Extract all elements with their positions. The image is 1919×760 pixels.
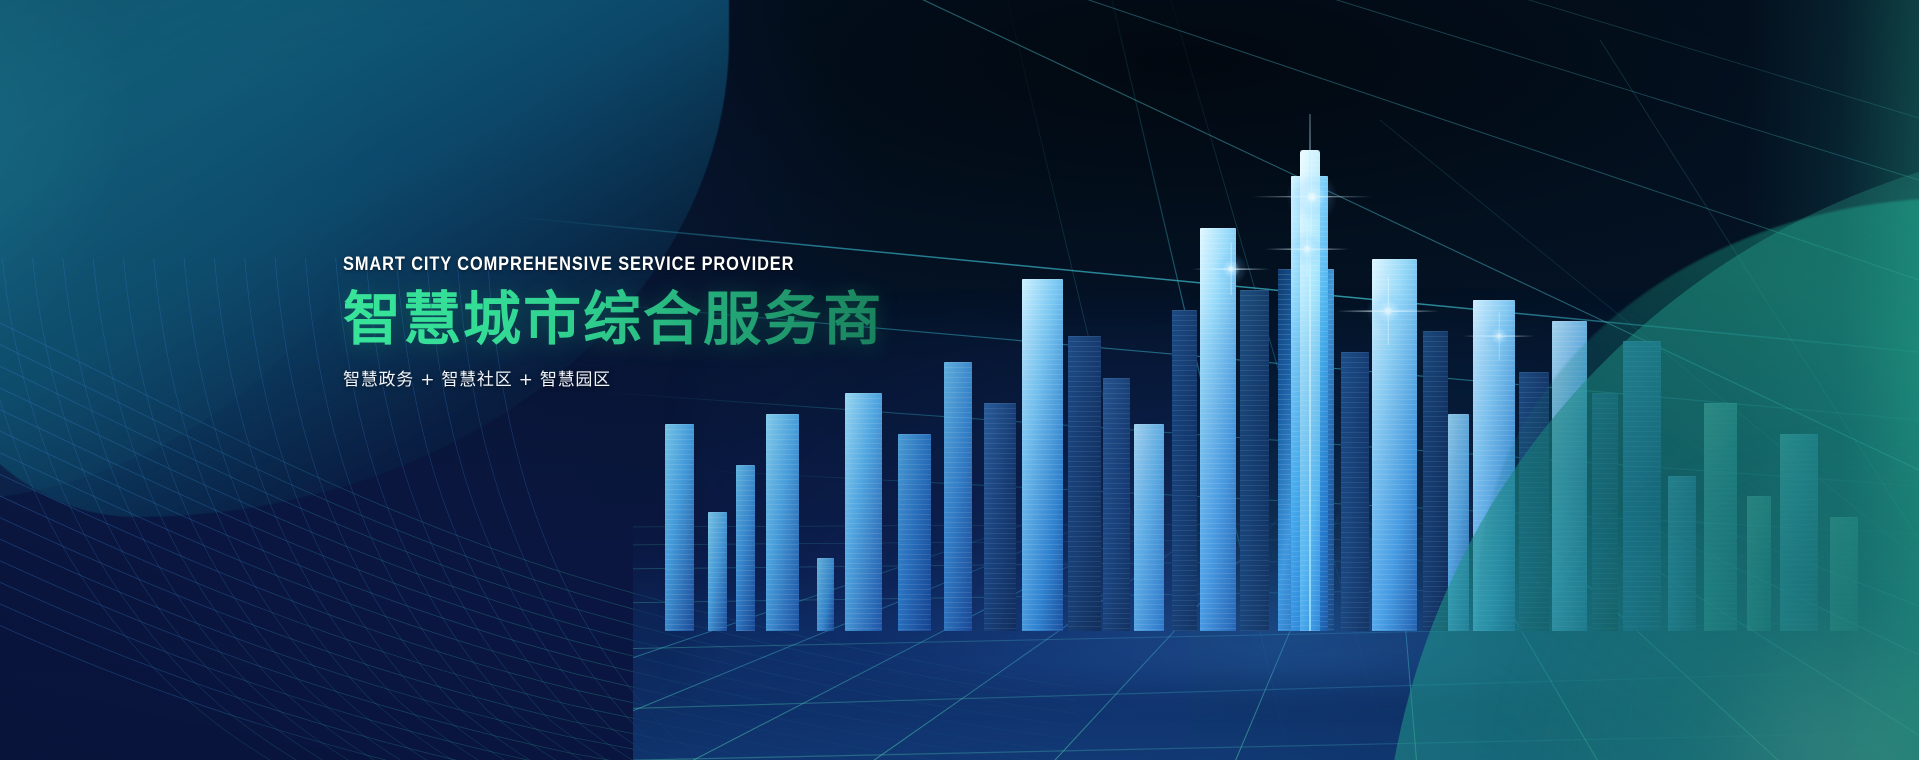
building-tower <box>1134 424 1164 631</box>
building-tower <box>984 403 1016 630</box>
building-tower <box>1200 228 1237 631</box>
building-tower <box>1172 310 1197 630</box>
building-tower <box>1423 331 1448 631</box>
building-tower <box>1103 378 1130 631</box>
tower-antenna-spire <box>1309 114 1311 631</box>
building-bar <box>736 465 755 630</box>
hero-title-chinese: 智慧城市综合服务商 <box>343 288 883 351</box>
hero-subtitle: 智慧政务 + 智慧社区 + 智慧园区 <box>343 365 883 390</box>
building-tower <box>1341 352 1369 631</box>
building-tower <box>1372 259 1418 631</box>
building-bar <box>944 362 972 631</box>
building-tower <box>1240 290 1269 631</box>
building-bar <box>665 424 694 631</box>
building-bar <box>817 558 833 630</box>
hero-text-block: SMART CITY COMPREHENSIVE SERVICE PROVIDE… <box>343 253 883 390</box>
building-bar <box>708 512 727 631</box>
building-bar <box>766 414 799 631</box>
building-tower <box>1068 336 1101 631</box>
building-bar <box>898 434 931 630</box>
green-right-edge <box>1746 0 1919 760</box>
building-tower <box>1022 279 1063 630</box>
hero-eyebrow-english: SMART CITY COMPREHENSIVE SERVICE PROVIDE… <box>343 253 797 276</box>
smart-city-hero-banner: SMART CITY COMPREHENSIVE SERVICE PROVIDE… <box>0 0 1919 760</box>
building-bar <box>845 393 882 631</box>
